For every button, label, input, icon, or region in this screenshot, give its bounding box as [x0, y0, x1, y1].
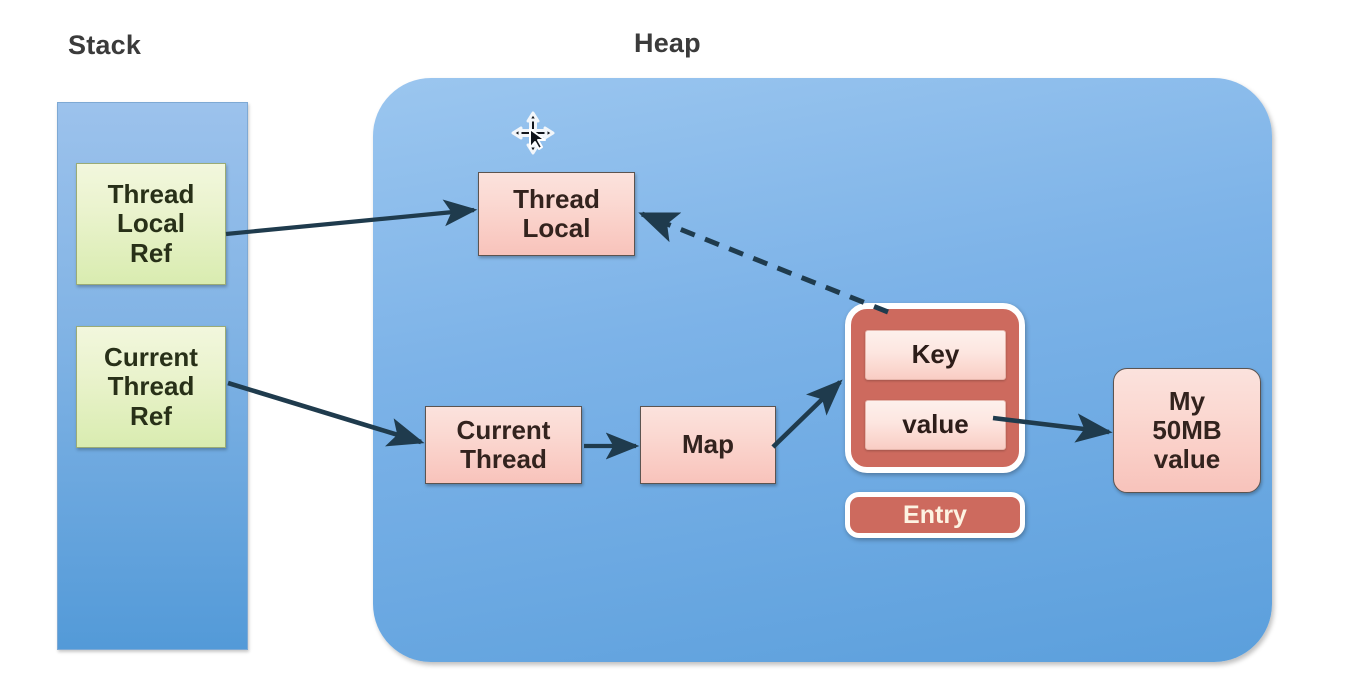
entry-legend-label: Entry — [903, 501, 967, 530]
move-cursor-icon — [510, 110, 556, 156]
node-my-50mb-value[interactable]: My 50MB value — [1113, 368, 1261, 493]
node-value[interactable]: value — [865, 400, 1006, 450]
entry-legend-box[interactable]: Entry — [845, 492, 1025, 538]
node-current-thread[interactable]: Current Thread — [425, 406, 582, 484]
entry-object-container[interactable]: Key value — [845, 303, 1025, 473]
node-thread-local-ref[interactable]: Thread Local Ref — [76, 163, 226, 285]
diagram-canvas: Stack Heap Thread Local Ref Current Thre… — [0, 0, 1348, 696]
heap-region-label: Heap — [634, 28, 701, 59]
node-key[interactable]: Key — [865, 330, 1006, 380]
node-map[interactable]: Map — [640, 406, 776, 484]
node-current-thread-ref[interactable]: Current Thread Ref — [76, 326, 226, 448]
stack-region-label: Stack — [68, 30, 141, 61]
node-thread-local[interactable]: Thread Local — [478, 172, 635, 256]
